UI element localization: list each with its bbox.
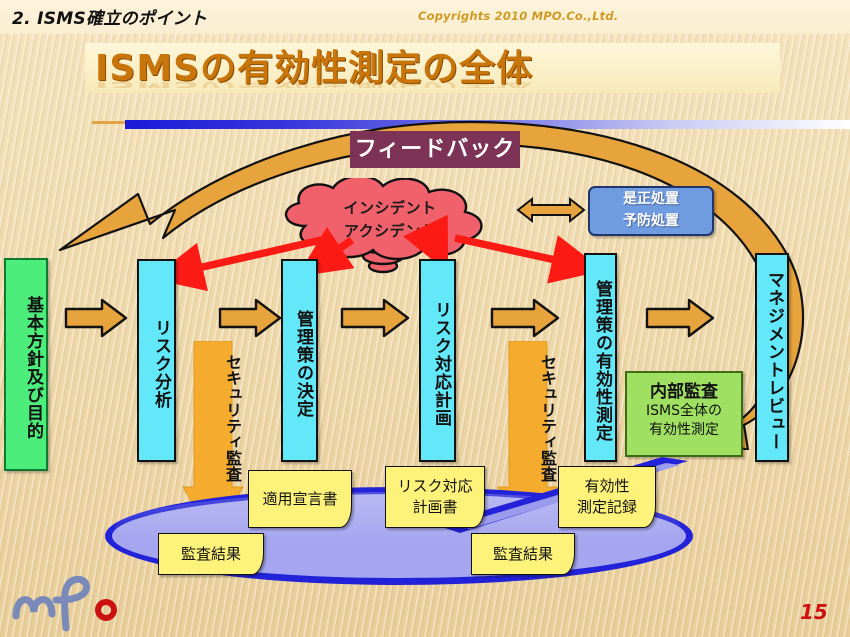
flow-arrow-3	[340, 298, 410, 338]
section-title: 2. ISMS確立のポイント	[12, 4, 207, 29]
document-note-statement-of-applicability: 適用宣言書	[248, 470, 352, 528]
pipeline-box-risk-treatment-plan: リスク対応計画	[419, 259, 456, 462]
flow-arrow-4	[490, 298, 560, 338]
cloud-label-accident: アクシデント	[300, 220, 480, 241]
feedback-label: フィードバック	[350, 131, 520, 168]
flow-arrow-1	[64, 298, 128, 338]
internal-audit-sub-2: 有効性測定	[627, 421, 741, 440]
pipeline-box-control-effectiveness: 管理策の有効性測定	[584, 253, 617, 462]
internal-audit-sub-1: ISMS全体の	[627, 402, 741, 421]
pipeline-box-management-review: マネジメントレビュー	[755, 253, 789, 462]
pipeline-box-policy: 基本方針及び目的	[4, 258, 48, 471]
corrective-line-1: 是正処置	[590, 188, 712, 210]
corrective-action-box: 是正処置 予防処置	[588, 186, 714, 236]
internal-audit-box: 内部監査 ISMS全体の 有効性測定	[625, 371, 743, 457]
corrective-link-arrow	[516, 196, 586, 224]
pipeline-box-control-decision: 管理策の決定	[281, 259, 318, 462]
document-note-risk-treatment-plan: リスク対応 計画書	[385, 466, 485, 528]
document-note-audit-result-1: 監査結果	[158, 533, 264, 575]
copyright-notice: Copyrights 2010 MPO.Co.,Ltd.	[418, 9, 618, 23]
flow-arrow-2	[218, 298, 282, 338]
corrective-line-2: 予防処置	[590, 210, 712, 232]
internal-audit-title: 内部監査	[627, 377, 741, 402]
page-title: ISMSの有効性測定の全体	[95, 45, 785, 93]
cloud-label-incident: インシデント	[300, 197, 480, 218]
document-note-effectiveness-record: 有効性 測定記録	[558, 466, 656, 528]
mpo-logo	[8, 572, 138, 632]
security-audit-label-1: セキュリティ監査	[182, 345, 244, 491]
slide-canvas: 2. ISMS確立のポイント Copyrights 2010 MPO.Co.,L…	[0, 0, 850, 637]
pipeline-box-risk-analysis: リスク分析	[137, 259, 176, 462]
flow-arrow-5	[645, 298, 715, 338]
page-number: 15	[800, 600, 828, 624]
document-note-audit-result-2: 監査結果	[471, 533, 575, 575]
